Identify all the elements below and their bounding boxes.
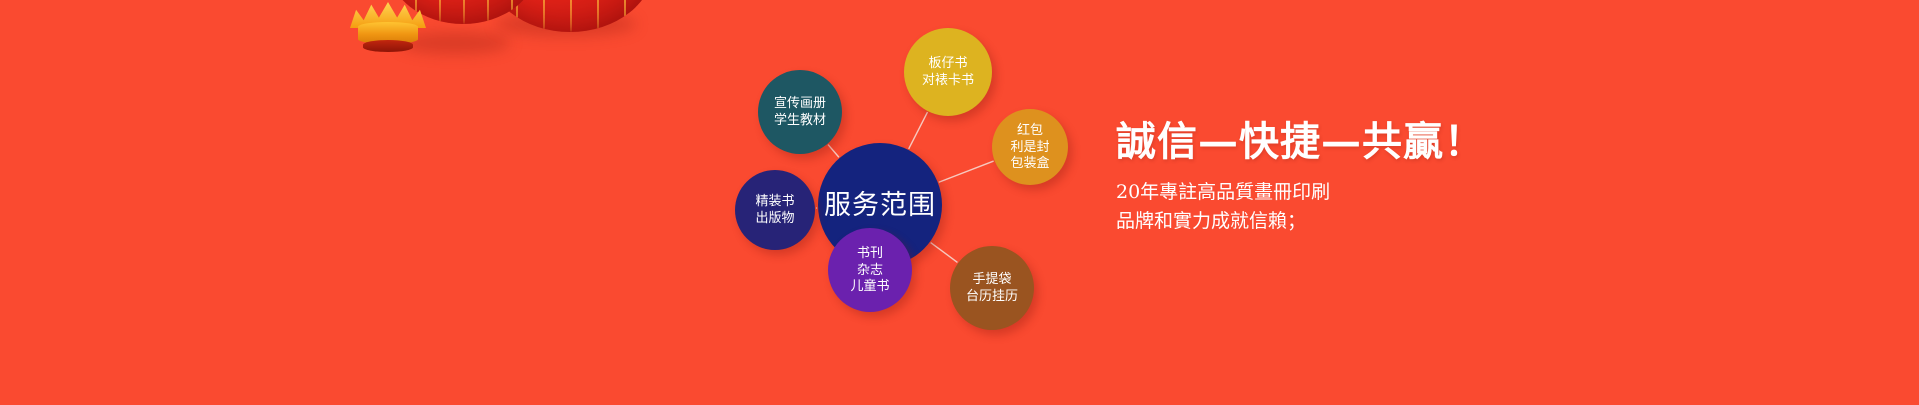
bubble-handbags-calendars[interactable]: 手提袋台历挂历 xyxy=(950,246,1034,330)
bubble-label: 书刊 xyxy=(857,245,883,262)
bubble-promo-albums[interactable]: 宣传画册学生教材 xyxy=(758,70,842,154)
slogan-headline: 誠信—快捷—共贏！ xyxy=(1116,120,1856,164)
bubble-board-books[interactable]: 板仔书对裱卡书 xyxy=(904,28,992,116)
bubble-label: 对裱卡书 xyxy=(922,72,974,89)
bubble-label: 板仔书 xyxy=(928,55,967,72)
connector-line xyxy=(828,145,839,158)
bubble-label: 出版物 xyxy=(755,210,794,227)
bubble-label: 儿童书 xyxy=(850,278,889,295)
connector-line xyxy=(909,112,928,149)
bubble-label: 台历挂历 xyxy=(966,288,1018,305)
slogan-subtext-line-2: 品牌和實力成就信賴； xyxy=(1116,207,1856,236)
connector-line xyxy=(931,243,958,263)
bubble-label: 服务范围 xyxy=(824,188,936,223)
service-scope-diagram: 服务范围宣传画册学生教材板仔书对裱卡书红包利是封包装盒精装书出版物书刊杂志儿童书… xyxy=(0,0,1100,405)
slogan-subtext: 20年專註高品質畫冊印刷 品牌和實力成就信賴； xyxy=(1116,178,1856,237)
bubble-label: 杂志 xyxy=(857,262,883,279)
bubble-red-envelopes[interactable]: 红包利是封包装盒 xyxy=(992,109,1068,185)
connector-line xyxy=(939,161,994,182)
bubble-label: 红包 xyxy=(1017,122,1043,139)
bubble-label: 学生教材 xyxy=(774,112,826,129)
bubble-label: 包装盒 xyxy=(1010,155,1049,172)
bubble-label: 宣传画册 xyxy=(774,95,826,112)
slogan-subtext-line-1: 20年專註高品質畫冊印刷 xyxy=(1116,178,1856,207)
bubble-label: 利是封 xyxy=(1010,139,1049,156)
bubble-label: 精装书 xyxy=(755,193,794,210)
bubble-label: 手提袋 xyxy=(972,271,1011,288)
slogan-block: 誠信—快捷—共贏！ 20年專註高品質畫冊印刷 品牌和實力成就信賴； xyxy=(1116,120,1856,237)
bubble-journals-magazines[interactable]: 书刊杂志儿童书 xyxy=(828,228,912,312)
bubble-hardcover-books[interactable]: 精装书出版物 xyxy=(735,170,815,250)
hero-banner: 服务范围宣传画册学生教材板仔书对裱卡书红包利是封包装盒精装书出版物书刊杂志儿童书… xyxy=(0,0,1919,405)
